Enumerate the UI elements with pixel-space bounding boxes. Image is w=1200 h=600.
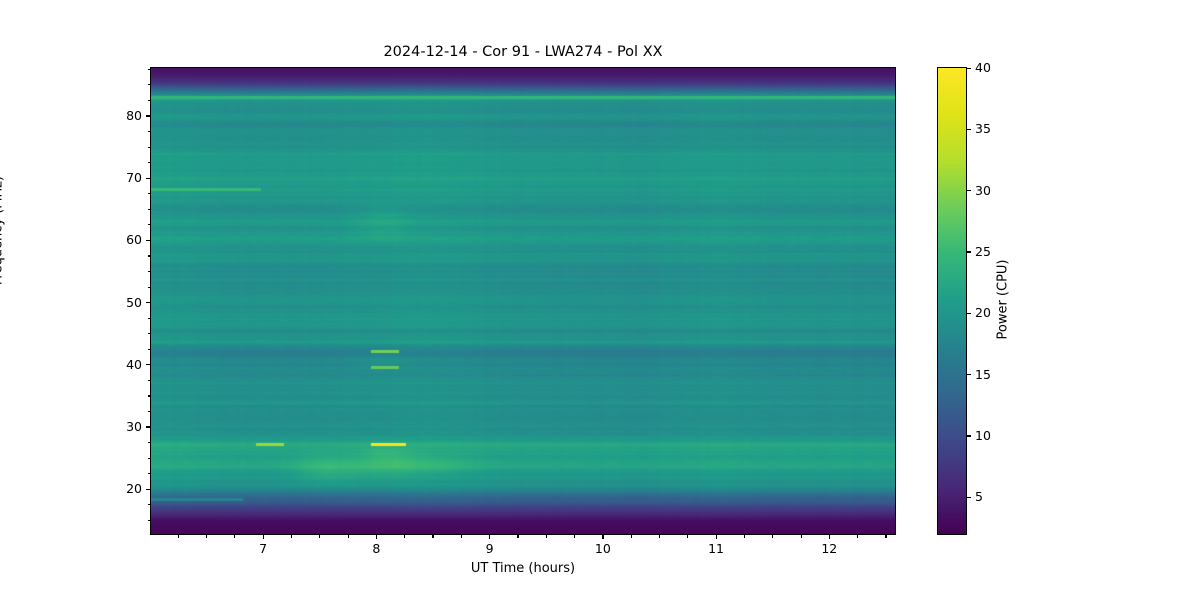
y-minor-tick bbox=[0, 271, 150, 272]
x-tick-label: 10 bbox=[563, 541, 643, 556]
y-tick-label: 20 bbox=[126, 480, 142, 498]
x-minor-tickmark bbox=[801, 535, 802, 538]
y-minor-tickmark bbox=[148, 411, 151, 412]
y-tickmark bbox=[146, 302, 150, 303]
y-minor-tick bbox=[0, 443, 150, 444]
y-minor-tickmark bbox=[148, 209, 151, 210]
spectrogram-image[interactable] bbox=[151, 68, 895, 534]
x-tickmark bbox=[263, 535, 264, 539]
y-minor-tickmark bbox=[148, 380, 151, 381]
y-tick-30: 30 bbox=[0, 427, 150, 428]
x-tickmark bbox=[716, 535, 717, 539]
y-minor-tick bbox=[0, 225, 150, 226]
y-minor-tick bbox=[0, 147, 150, 148]
colorbar-tickmark bbox=[967, 374, 971, 375]
colorbar-tick-label: 40 bbox=[975, 59, 991, 77]
y-tick-20: 20 bbox=[0, 489, 150, 490]
y-tickmark bbox=[146, 489, 150, 490]
y-tick-40: 40 bbox=[0, 365, 150, 366]
y-minor-tick bbox=[0, 334, 150, 335]
x-minor-tickmark bbox=[291, 535, 292, 538]
y-minor-tick bbox=[0, 100, 150, 101]
x-tickmark bbox=[602, 535, 603, 539]
y-tick-70: 70 bbox=[0, 178, 150, 179]
colorbar-axes[interactable] bbox=[937, 67, 967, 535]
x-axis-label: UT Time (hours) bbox=[150, 561, 896, 576]
colorbar-gradient bbox=[938, 68, 966, 534]
colorbar-tickmark bbox=[967, 190, 971, 191]
colorbar-tick-label: 25 bbox=[975, 243, 991, 261]
x-minor-tickmark bbox=[404, 535, 405, 538]
x-tick-label: 8 bbox=[336, 541, 416, 556]
y-minor-tick bbox=[0, 318, 150, 319]
y-minor-tickmark bbox=[148, 458, 151, 459]
y-minor-tickmark bbox=[148, 333, 151, 334]
y-minor-tick bbox=[0, 163, 150, 164]
y-minor-tick bbox=[0, 474, 150, 475]
x-minor-tickmark bbox=[631, 535, 632, 538]
y-minor-tickmark bbox=[148, 395, 151, 396]
y-minor-tickmark bbox=[148, 287, 151, 288]
spectrogram-axes[interactable] bbox=[150, 67, 896, 535]
y-minor-tick bbox=[0, 411, 150, 412]
y-minor-tickmark bbox=[148, 224, 151, 225]
y-minor-tick bbox=[0, 256, 150, 257]
y-minor-tick bbox=[0, 349, 150, 350]
x-tickmark bbox=[489, 535, 490, 539]
y-tickmark bbox=[146, 115, 150, 116]
colorbar-tickmark bbox=[967, 129, 971, 130]
figure-canvas: 2024-12-14 - Cor 91 - LWA274 - Pol XX Fr… bbox=[0, 0, 1200, 600]
y-tickmark bbox=[146, 240, 150, 241]
y-minor-tickmark bbox=[148, 504, 151, 505]
y-minor-tick bbox=[0, 85, 150, 86]
x-minor-tickmark bbox=[178, 535, 179, 538]
y-minor-tick bbox=[0, 520, 150, 521]
colorbar-tick-label: 30 bbox=[975, 182, 991, 200]
y-minor-tickmark bbox=[148, 473, 151, 474]
y-minor-tick bbox=[0, 131, 150, 132]
y-minor-tick bbox=[0, 194, 150, 195]
colorbar-tickmark bbox=[967, 68, 971, 69]
x-minor-tickmark bbox=[772, 535, 773, 538]
y-minor-tickmark bbox=[148, 193, 151, 194]
x-tick-label: 7 bbox=[223, 541, 303, 556]
y-minor-tick bbox=[0, 458, 150, 459]
y-minor-tickmark bbox=[148, 84, 151, 85]
colorbar-tickmark bbox=[967, 497, 971, 498]
x-minor-tickmark bbox=[319, 535, 320, 538]
colorbar-label: Power (CPU) bbox=[996, 200, 1011, 400]
x-tick-label: 12 bbox=[789, 541, 869, 556]
colorbar-tick-label: 10 bbox=[975, 427, 991, 445]
y-minor-tickmark bbox=[148, 271, 151, 272]
y-minor-tickmark bbox=[148, 162, 151, 163]
y-minor-tick bbox=[0, 380, 150, 381]
y-tick-label: 30 bbox=[126, 418, 142, 436]
x-minor-tickmark bbox=[517, 535, 518, 538]
colorbar-tickmark bbox=[967, 435, 971, 436]
x-minor-tickmark bbox=[574, 535, 575, 538]
colorbar-tick-label: 20 bbox=[975, 304, 991, 322]
x-minor-tickmark bbox=[857, 535, 858, 538]
y-minor-tickmark bbox=[148, 520, 151, 521]
x-minor-tickmark bbox=[348, 535, 349, 538]
y-tickmark bbox=[146, 364, 150, 365]
y-minor-tick bbox=[0, 209, 150, 210]
y-minor-tickmark bbox=[148, 69, 151, 70]
y-minor-tick bbox=[0, 396, 150, 397]
y-minor-tick bbox=[0, 287, 150, 288]
y-tick-50: 50 bbox=[0, 303, 150, 304]
colorbar-tick-label: 35 bbox=[975, 120, 991, 138]
y-tick-label: 70 bbox=[126, 169, 142, 187]
x-tick-label: 11 bbox=[676, 541, 756, 556]
colorbar-tick-label: 15 bbox=[975, 366, 991, 384]
x-minor-tickmark bbox=[687, 535, 688, 538]
x-tick-label: 9 bbox=[450, 541, 530, 556]
colorbar-tickmark bbox=[967, 313, 971, 314]
x-minor-tickmark bbox=[432, 535, 433, 538]
x-minor-tickmark bbox=[659, 535, 660, 538]
y-minor-tickmark bbox=[148, 100, 151, 101]
y-minor-tickmark bbox=[148, 318, 151, 319]
y-minor-tick bbox=[0, 505, 150, 506]
x-minor-tickmark bbox=[546, 535, 547, 538]
y-minor-tickmark bbox=[148, 255, 151, 256]
x-tickmark bbox=[376, 535, 377, 539]
y-tick-60: 60 bbox=[0, 240, 150, 241]
y-tick-80: 80 bbox=[0, 116, 150, 117]
y-tick-label: 60 bbox=[126, 231, 142, 249]
x-minor-tickmark bbox=[885, 535, 886, 538]
x-minor-tickmark bbox=[461, 535, 462, 538]
y-tick-label: 80 bbox=[126, 107, 142, 125]
page-title: 2024-12-14 - Cor 91 - LWA274 - Pol XX bbox=[150, 44, 896, 60]
y-minor-tickmark bbox=[148, 442, 151, 443]
y-axis-label: Frequency (MHz) bbox=[0, 131, 6, 331]
x-tickmark bbox=[829, 535, 830, 539]
colorbar-tickmark bbox=[967, 251, 971, 252]
y-minor-tick bbox=[0, 69, 150, 70]
y-tickmark bbox=[146, 178, 150, 179]
x-minor-tickmark bbox=[744, 535, 745, 538]
colorbar-tick-label: 5 bbox=[975, 488, 983, 506]
y-minor-tickmark bbox=[148, 349, 151, 350]
x-minor-tickmark bbox=[206, 535, 207, 538]
y-minor-tickmark bbox=[148, 131, 151, 132]
y-tick-label: 40 bbox=[126, 356, 142, 374]
x-minor-tickmark bbox=[234, 535, 235, 538]
y-minor-tickmark bbox=[148, 147, 151, 148]
y-tick-label: 50 bbox=[126, 294, 142, 312]
y-tickmark bbox=[146, 426, 150, 427]
